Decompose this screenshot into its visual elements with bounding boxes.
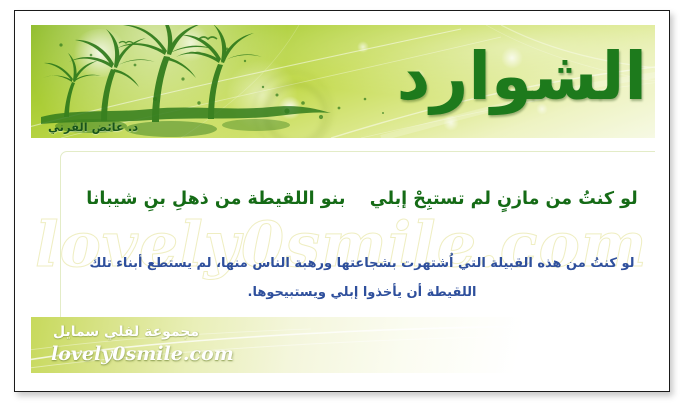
content-card: الشوارد د. عائض القرني lovely0smile.com … [14,10,670,392]
footer-banner: مجموعة لفلي سمايل lovely0smile.com [31,317,655,373]
author-name: د. عائض القرني [48,120,138,134]
content-body: lovely0smile.com لو كنتُ من مازنٍ لم تست… [31,138,655,334]
footer-website-url[interactable]: lovely0smile.com [51,343,234,365]
explanation-line: اللقيطة أن يأخذوا إبلي ويستبيحوها. [79,278,645,307]
page-background: الشوارد د. عائض القرني lovely0smile.com … [0,0,692,412]
poetry-verse: لو كنتُ من مازنٍ لم تستبِحْ إبلي بنو الل… [61,186,655,212]
banner-title: الشوارد [417,25,647,136]
explanation-text: لو كنتُ من هذه القبيلة التي اُشتهرت بشجا… [79,249,645,307]
footer-arabic-label: مجموعة لفلي سمايل [53,324,199,340]
header-banner: الشوارد د. عائض القرني [31,25,655,138]
explanation-line: لو كنتُ من هذه القبيلة التي اُشتهرت بشجا… [79,249,645,278]
quote-box: لو كنتُ من مازنٍ لم تستبِحْ إبلي بنو الل… [60,151,655,334]
